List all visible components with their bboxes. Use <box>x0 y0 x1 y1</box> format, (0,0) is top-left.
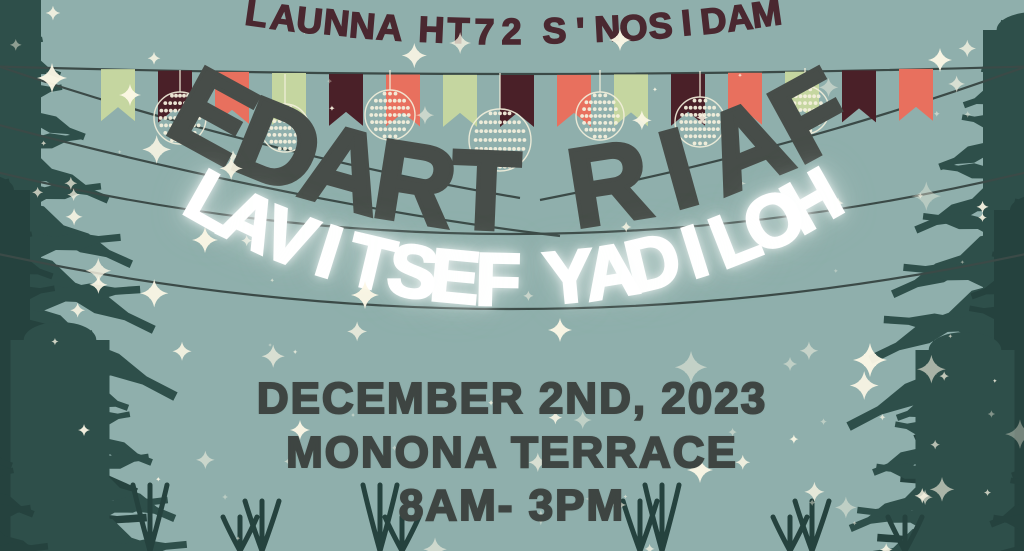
arc-letter: Y <box>541 238 597 316</box>
arc-letter <box>522 242 545 317</box>
event-venue: MONONA TERRACE <box>0 426 1024 480</box>
event-poster: MADISON'S 27TH ANNUAL FAIR TRADE HOLIDAY… <box>0 0 1024 551</box>
event-date: DECEMBER 2ND, 2023 <box>0 372 1024 426</box>
event-details: DECEMBER 2ND, 2023 MONONA TERRACE 8AM- 3… <box>0 372 1024 533</box>
event-time: 8AM- 3PM <box>0 479 1024 533</box>
